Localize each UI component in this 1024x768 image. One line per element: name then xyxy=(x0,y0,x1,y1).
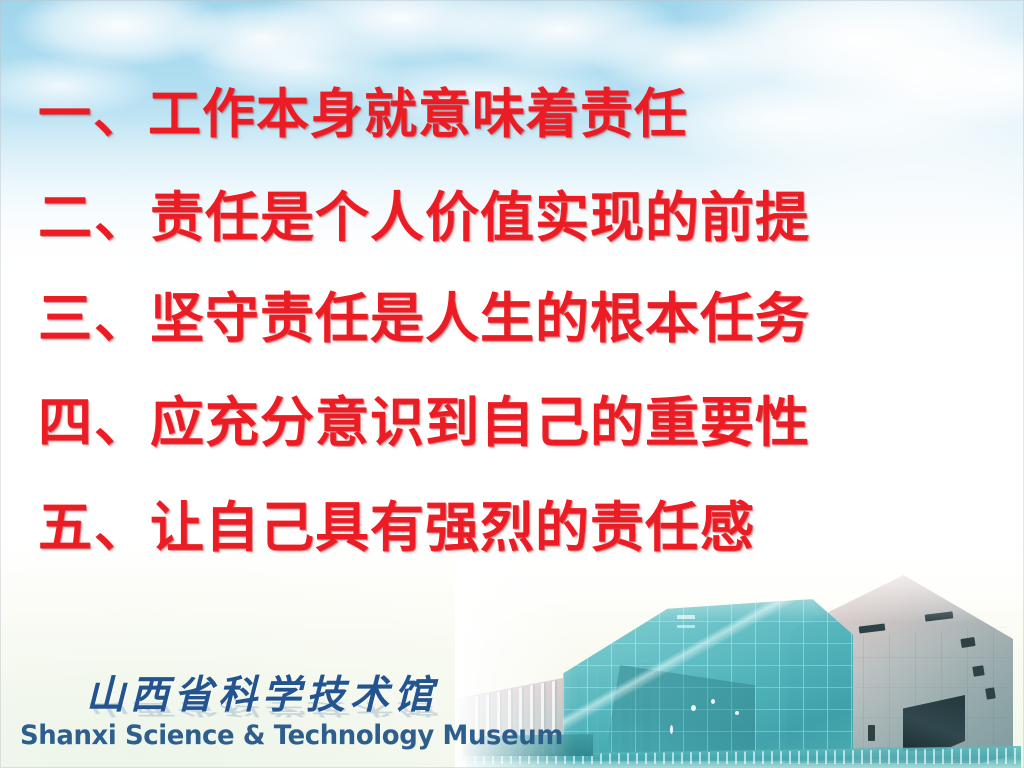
headline-marker-5: 五、 xyxy=(38,495,150,559)
headline-text-2: 责任是个人价值实现的前提 xyxy=(150,185,810,249)
headline-text-3: 坚守责任是人生的根本任务 xyxy=(150,286,810,350)
logo-chinese-name: 山西省科学技术馆 xyxy=(86,676,438,715)
headline-marker-3: 三、 xyxy=(38,286,150,350)
headline-marker-1: 一、 xyxy=(38,83,148,145)
presentation-slide: 一、工作本身就意味着责任 二、责任是个人价值实现的前提 三、坚守责任是人生的根本… xyxy=(0,0,1024,768)
building-window-slot xyxy=(868,725,875,741)
building-glass-glint xyxy=(735,711,739,715)
headline-list: 一、工作本身就意味着责任 二、责任是个人价值实现的前提 三、坚守责任是人生的根本… xyxy=(0,0,1024,600)
headline-item-4: 四、应充分意识到自己的重要性 xyxy=(38,395,810,449)
headline-item-3: 三、坚守责任是人生的根本任务 xyxy=(38,291,810,345)
building-glass-glint xyxy=(711,699,715,704)
headline-item-1: 一、工作本身就意味着责任 xyxy=(38,88,688,141)
headline-text-1: 工作本身就意味着责任 xyxy=(148,83,688,145)
headline-item-5: 五、让自己具有强烈的责任感 xyxy=(38,500,755,554)
building-window-slot xyxy=(972,665,984,677)
museum-logo: 山西省科学技术馆 山西省科学技术馆 Shanxi Science & Techn… xyxy=(18,676,488,756)
headline-text-4: 应充分意识到自己的重要性 xyxy=(150,390,810,454)
headline-marker-2: 二、 xyxy=(38,185,150,249)
headline-item-2: 二、责任是个人价值实现的前提 xyxy=(38,190,810,244)
building-glass-glint xyxy=(670,725,673,734)
building-glass-glint xyxy=(691,705,696,711)
headline-text-5: 让自己具有强烈的责任感 xyxy=(150,495,755,559)
headline-marker-4: 四、 xyxy=(38,390,150,454)
building-window-slot xyxy=(985,687,996,699)
logo-english-name: Shanxi Science & Technology Museum xyxy=(20,722,563,749)
building-glass-reflection-fold xyxy=(563,599,853,761)
